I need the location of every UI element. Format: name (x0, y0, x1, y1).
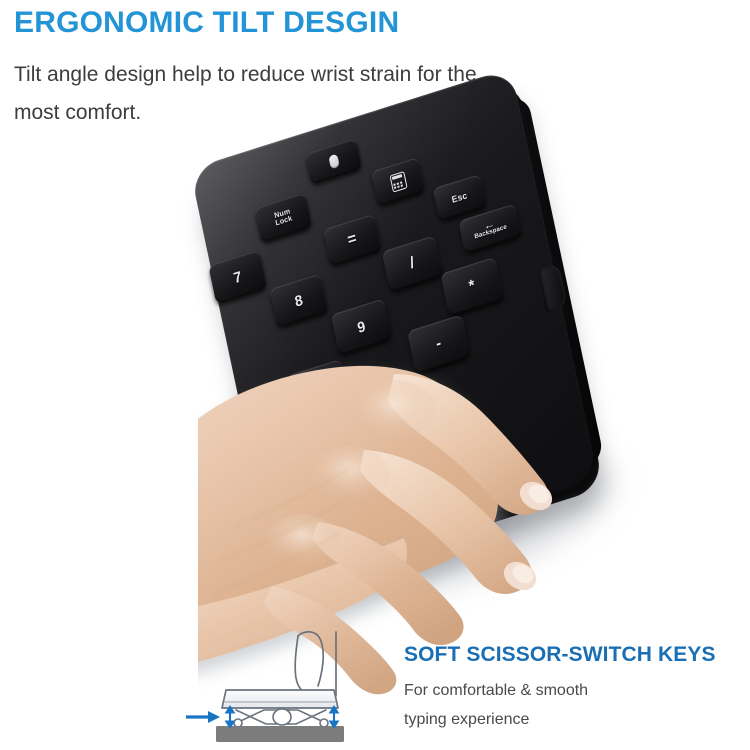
knuckle-highlight (352, 380, 436, 440)
page-title: ERGONOMIC TILT DESGIN (14, 6, 399, 40)
knuckle-highlight (264, 514, 340, 566)
scissor-switch-diagram (186, 628, 386, 748)
product-feature-image: ERGONOMIC TILT DESGIN Tilt angle design … (0, 0, 750, 750)
key-label: Esc (451, 190, 468, 204)
bottom-body-text: For comfortable & smooth typing experien… (404, 676, 734, 734)
diagram-base-plate (216, 726, 344, 742)
knuckle-highlight (310, 446, 390, 502)
diagram-pointer-arrow (186, 711, 220, 723)
key-label: / (408, 255, 416, 273)
numeric-keypad-photo: NumLock=Esc78/←Backspace9*6-+Enter (228, 118, 668, 608)
diagram-scissor-mechanism (234, 709, 328, 727)
top-body-line-1: Tilt angle design help to reduce wrist s… (14, 56, 674, 94)
backspace-arrow-icon: ←Backspace (472, 216, 507, 241)
power-indicator-icon (328, 153, 340, 169)
key-label: NumLock (273, 207, 293, 228)
scissor-switch-svg (186, 628, 386, 748)
diagram-finger (295, 632, 336, 696)
key-label: 8 (293, 292, 304, 310)
key-label: * (468, 277, 477, 295)
key-label: 7 (232, 268, 243, 286)
key-label: = (346, 230, 358, 249)
calculator-icon (389, 171, 407, 193)
feature-title-scissor-switch: SOFT SCISSOR-SWITCH KEYS (404, 643, 716, 667)
diagram-keycap (222, 690, 338, 708)
bottom-body-line-2: typing experience (404, 705, 734, 734)
bottom-body-line-1: For comfortable & smooth (404, 676, 734, 705)
